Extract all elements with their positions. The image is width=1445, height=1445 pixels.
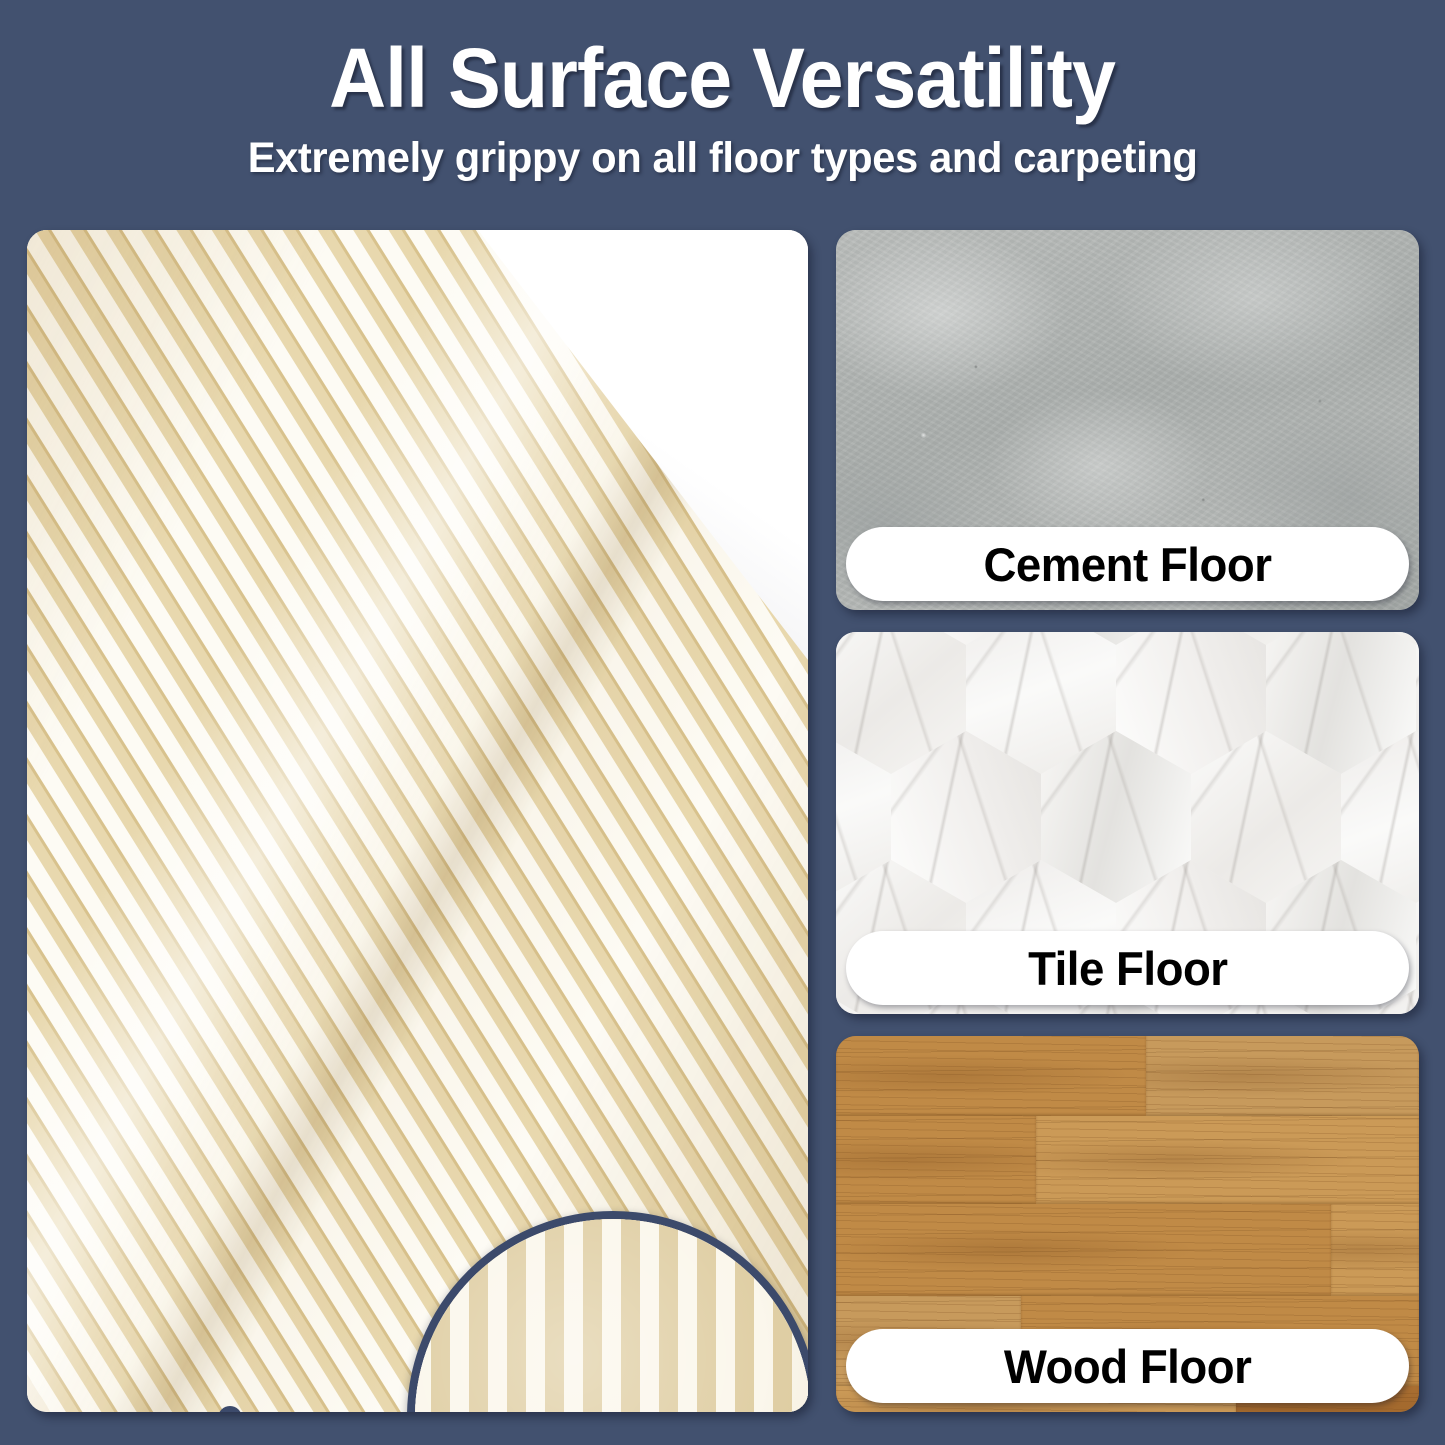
wood-plank (1036, 1116, 1419, 1204)
page-subtitle: Extremely grippy on all floor types and … (248, 134, 1198, 183)
wood-plank (836, 1116, 1036, 1204)
surface-card-wood: Wood Floor (836, 1036, 1419, 1412)
wood-grain (1331, 1204, 1419, 1296)
label-pill-tile: Tile Floor (846, 931, 1409, 1005)
wood-grain (1036, 1116, 1419, 1204)
wood-grain (836, 1036, 1146, 1116)
surface-label-tile: Tile Floor (1028, 941, 1227, 996)
wood-grain (1146, 1036, 1419, 1116)
header: All Surface Versatility Extremely grippy… (0, 0, 1445, 225)
infographic-root: All Surface Versatility Extremely grippy… (0, 0, 1445, 1445)
magnifier-shading (415, 1219, 808, 1412)
wood-plank (1146, 1036, 1419, 1116)
wood-grain (836, 1116, 1036, 1204)
label-pill-cement: Cement Floor (846, 527, 1409, 601)
wood-grain (836, 1204, 1331, 1296)
page-title: All Surface Versatility (330, 36, 1116, 120)
surface-card-tile: Tile Floor (836, 632, 1419, 1014)
surface-card-cement: Cement Floor (836, 230, 1419, 610)
magnifier-circle (407, 1211, 808, 1412)
wood-plank (836, 1036, 1146, 1116)
surface-label-wood: Wood Floor (1004, 1339, 1252, 1394)
label-pill-wood: Wood Floor (846, 1329, 1409, 1403)
wood-plank (1331, 1204, 1419, 1296)
surface-label-cement: Cement Floor (983, 537, 1271, 592)
wood-plank (836, 1204, 1331, 1296)
product-photo-card (27, 230, 808, 1412)
